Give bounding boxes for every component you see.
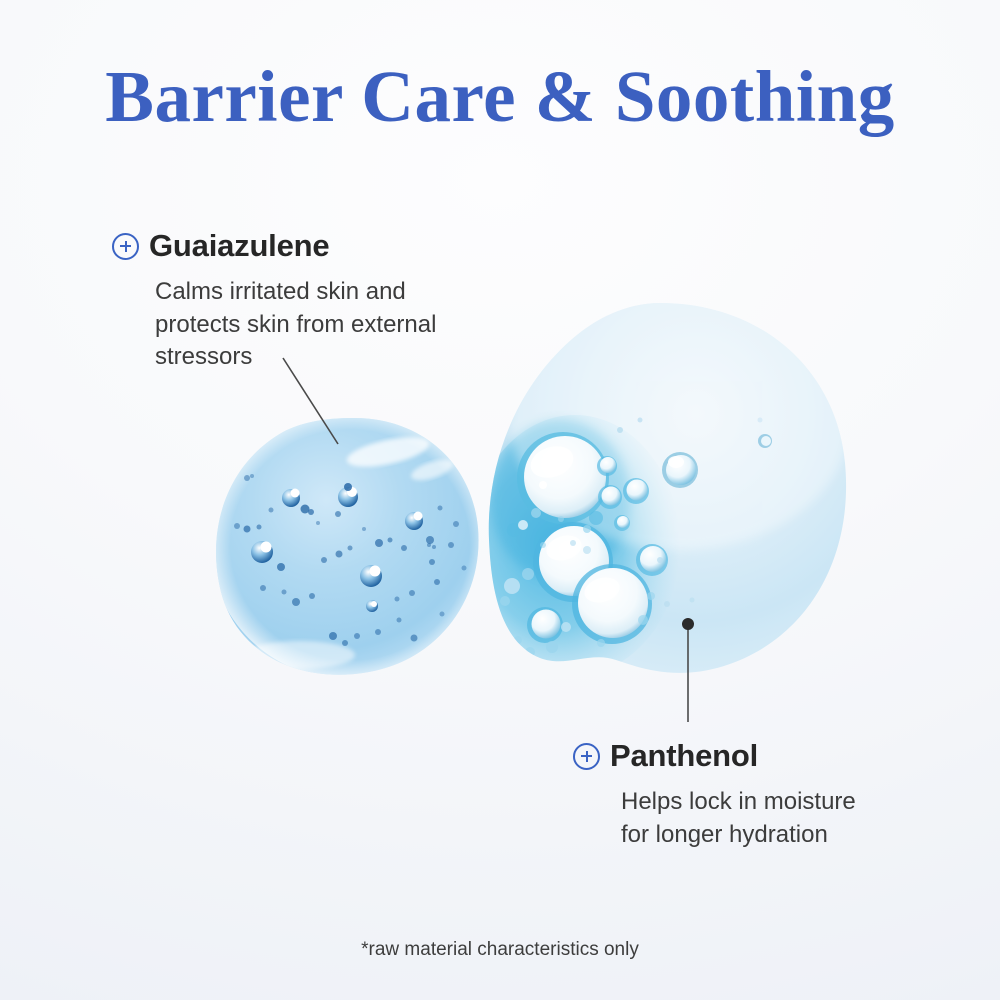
circled-plus-icon (112, 233, 139, 260)
ingredient-panthenol-header: Panthenol (573, 738, 856, 774)
page-title: Barrier Care & Soothing (0, 55, 1000, 139)
ingredient-panthenol-description: Helps lock in moisture for longer hydrat… (621, 786, 856, 851)
ingredient-guaiazulene-header: Guaiazulene (112, 228, 436, 264)
right-gel-droplet (470, 290, 850, 675)
ingredient-panthenol: Panthenol Helps lock in moisture for lon… (573, 738, 856, 851)
ingredient-guaiazulene-description: Calms irritated skin and protects skin f… (155, 276, 436, 374)
circled-plus-icon (573, 743, 600, 770)
ingredient-guaiazulene-name: Guaiazulene (149, 228, 329, 264)
left-gel-droplet (210, 410, 490, 680)
ingredient-panthenol-name: Panthenol (610, 738, 758, 774)
ingredient-guaiazulene: Guaiazulene Calms irritated skin and pro… (112, 228, 436, 374)
leader-dot-panthenol (682, 618, 694, 630)
product-ingredient-infographic: Barrier Care & Soothing Guaiazulene Calm… (0, 0, 1000, 1000)
footnote-disclaimer: *raw material characteristics only (0, 939, 1000, 961)
